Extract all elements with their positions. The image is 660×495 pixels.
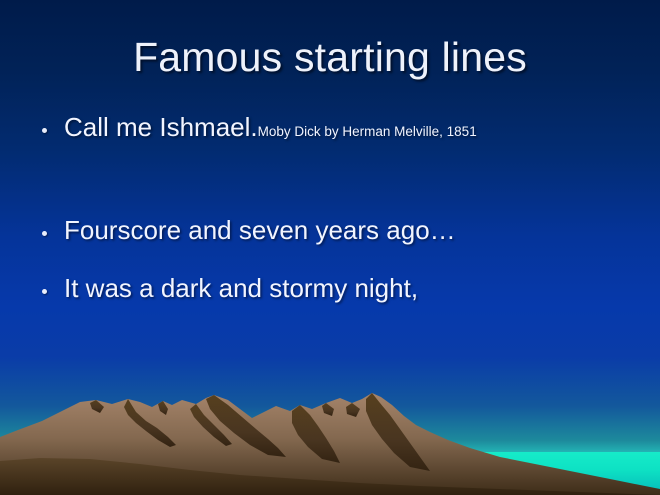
presentation-slide: Famous starting lines Call me Ishmael.Mo… (0, 0, 660, 495)
bullet-citation: Moby Dick by Herman Melville, 1851 (258, 124, 477, 139)
bullet-text: Call me Ishmael. (64, 112, 258, 142)
list-item: Fourscore and seven years ago… (34, 215, 634, 246)
bullet-list: Call me Ishmael.Moby Dick by Herman Melv… (34, 112, 634, 304)
bullet-dot-icon (42, 289, 47, 294)
slide-title: Famous starting lines (0, 34, 660, 81)
list-item: It was a dark and stormy night, (34, 273, 634, 304)
list-item: Call me Ishmael.Moby Dick by Herman Melv… (34, 112, 634, 143)
bullet-text: Fourscore and seven years ago… (64, 215, 456, 245)
bullet-dot-icon (42, 128, 47, 133)
bullet-text: It was a dark and stormy night, (64, 273, 418, 303)
mountain-range-icon (0, 385, 660, 495)
bullet-dot-icon (42, 231, 47, 236)
